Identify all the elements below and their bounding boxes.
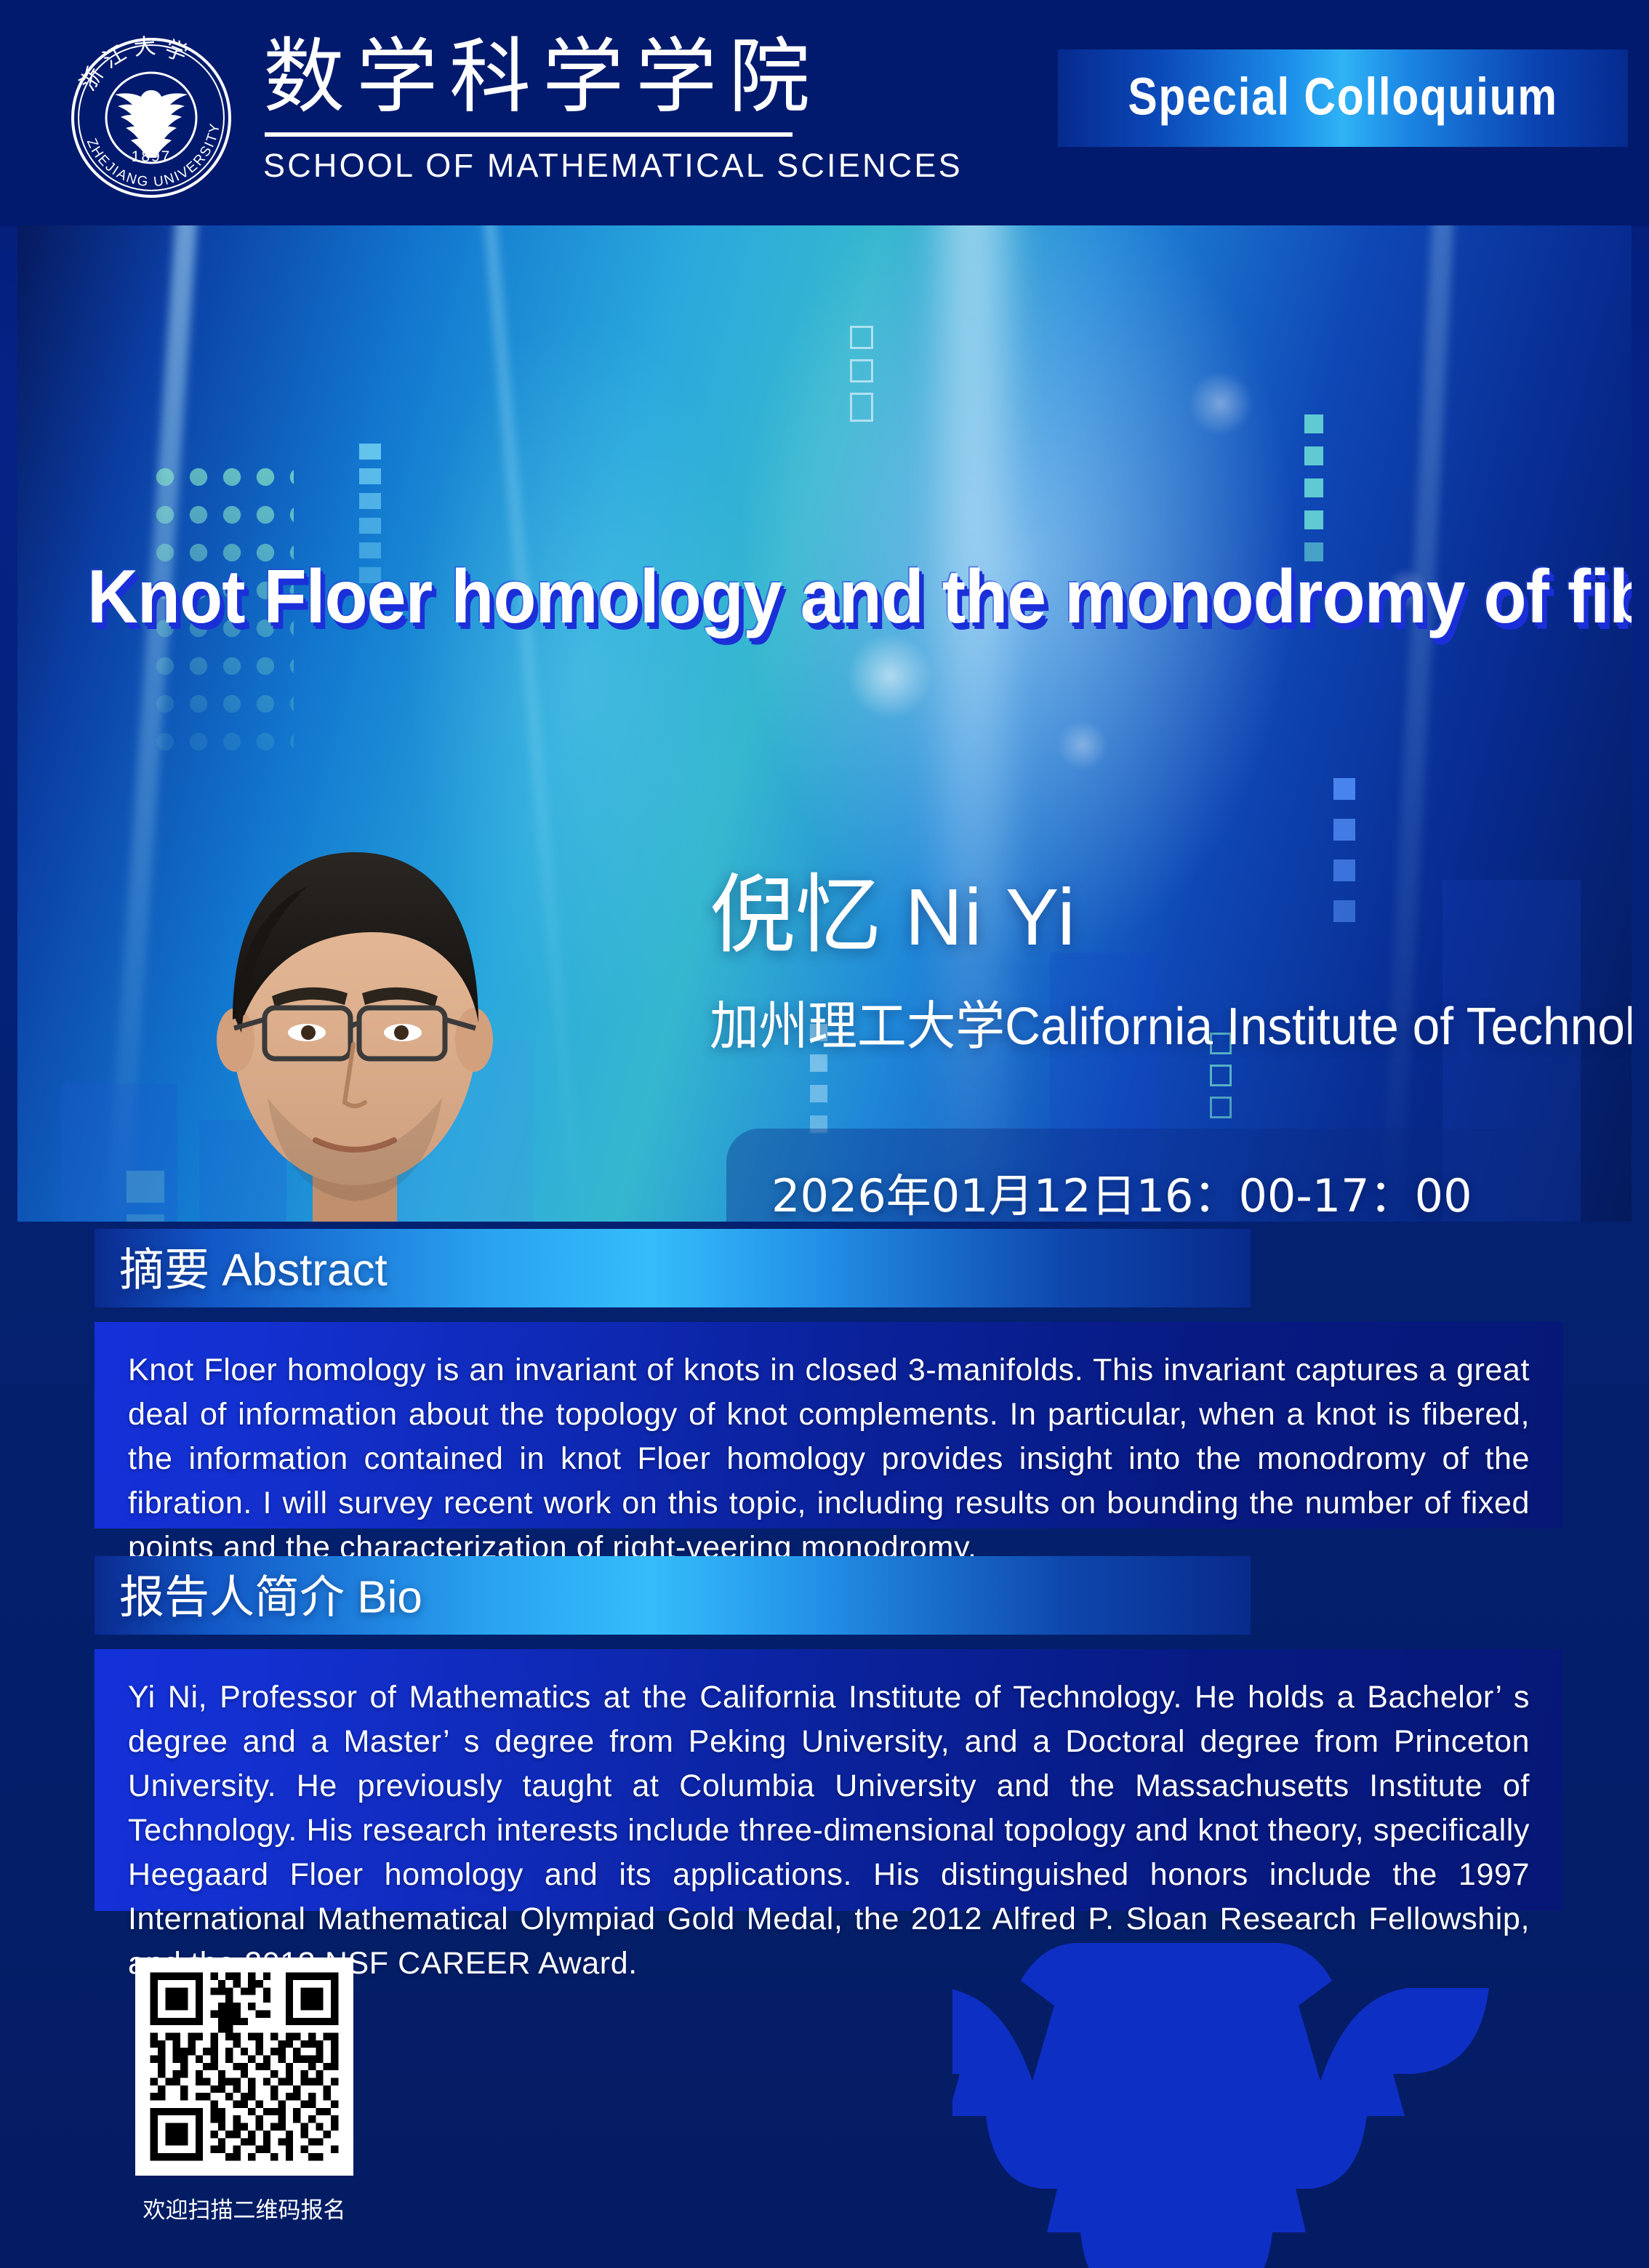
bio-body: Yi Ni, Professor of Mathematics at the C… — [128, 1675, 1530, 1986]
abstract-panel: Knot Floer homology is an invariant of k… — [95, 1322, 1563, 1528]
bio-panel: Yi Ni, Professor of Mathematics at the C… — [95, 1649, 1563, 1911]
registration-qr-block: 欢迎扫描二维码报名 — [135, 1958, 353, 2224]
bio-heading: 报告人简介 Bio — [119, 1560, 422, 1625]
school-name-block: 数学科学学院 SCHOOL OF MATHEMATICAL SCIENCES — [263, 35, 801, 185]
event-info-box: 2026年01月12日16：00-17：00 16:00-17:00 Monda… — [726, 1129, 1562, 1222]
glow-decor — [1188, 371, 1253, 436]
glow-decor — [846, 633, 934, 720]
qr-code-icon[interactable] — [135, 1958, 353, 2176]
glow-decor — [1057, 720, 1108, 771]
special-colloquium-badge: Special Colloquium — [1058, 49, 1628, 147]
special-colloquium-label: Special Colloquium — [1058, 67, 1628, 127]
qr-caption: 欢迎扫描二维码报名 — [135, 2192, 353, 2224]
school-divider — [265, 132, 793, 137]
light-beam-decor — [941, 225, 1006, 1222]
poster-header: 浙 江 大 学 ZHEJIANG UNIVERSITY 1897 数学科学学院 … — [0, 0, 1649, 227]
abstract-heading: 摘要 Abstract — [119, 1233, 388, 1298]
event-datetime-cn: 2026年01月12日16：00-17：00 — [771, 1159, 1472, 1222]
abstract-section-header: 摘要 Abstract — [95, 1229, 1251, 1307]
speaker-photo — [28, 691, 682, 1222]
speaker-affiliation: 加州理工大学California Institute of Technology — [710, 983, 1632, 1059]
zhejiang-university-seal-icon: 浙 江 大 学 ZHEJIANG UNIVERSITY 1897 — [67, 33, 236, 202]
speaker-name: 倪忆 Ni Yi — [710, 845, 1077, 969]
hero-banner: Knot Floer homology and the monodromy of… — [17, 225, 1632, 1222]
school-name-cn: 数学科学学院 — [263, 35, 801, 121]
bio-section-header: 报告人简介 Bio — [95, 1556, 1251, 1635]
abstract-body: Knot Floer homology is an invariant of k… — [128, 1348, 1530, 1570]
school-name-en: SCHOOL OF MATHEMATICAL SCIENCES — [263, 147, 801, 185]
poster-root: 浙 江 大 学 ZHEJIANG UNIVERSITY 1897 数学科学学院 … — [0, 0, 1649, 2268]
talk-title: Knot Floer homology and the monodromy of… — [87, 554, 1585, 641]
